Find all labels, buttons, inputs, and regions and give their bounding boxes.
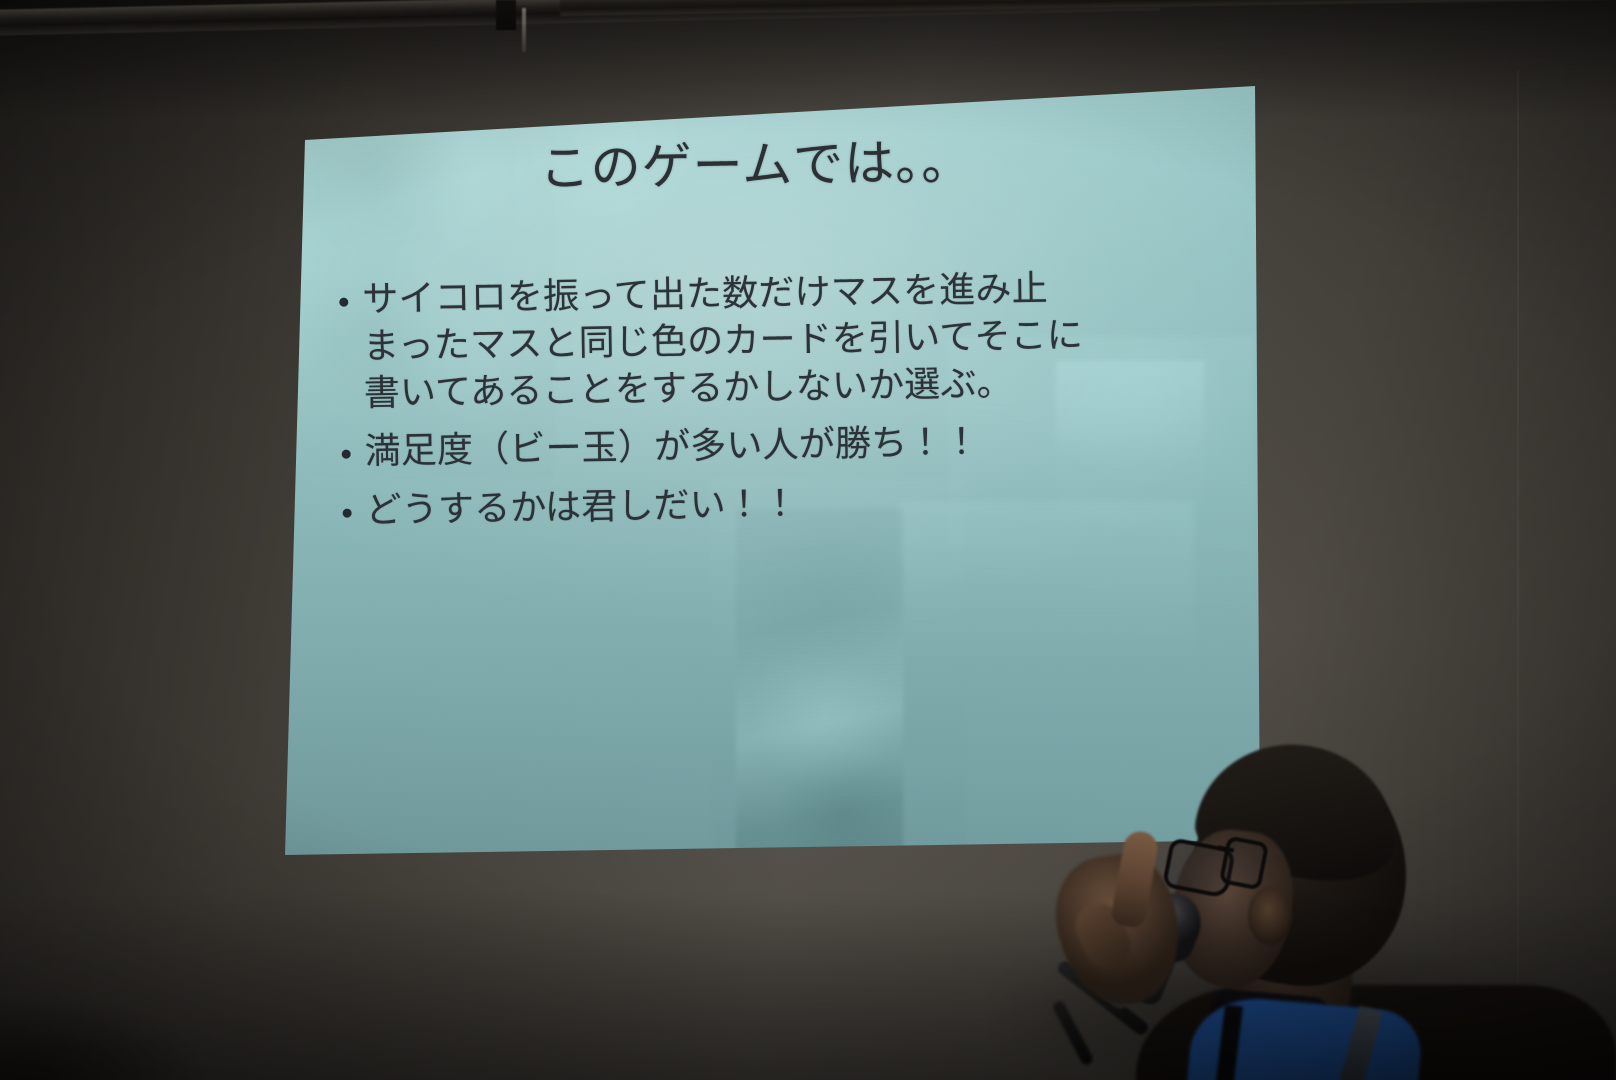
pipe-hanging-wire	[522, 8, 526, 52]
presenter-ear	[1248, 887, 1292, 945]
projector-room-photo: このゲームでは。。 サイコロを振って出た数だけマスを進み止 まったマスと同じ色の…	[0, 0, 1616, 1080]
presenter	[1040, 735, 1616, 1080]
pipe-bracket	[496, 0, 516, 30]
